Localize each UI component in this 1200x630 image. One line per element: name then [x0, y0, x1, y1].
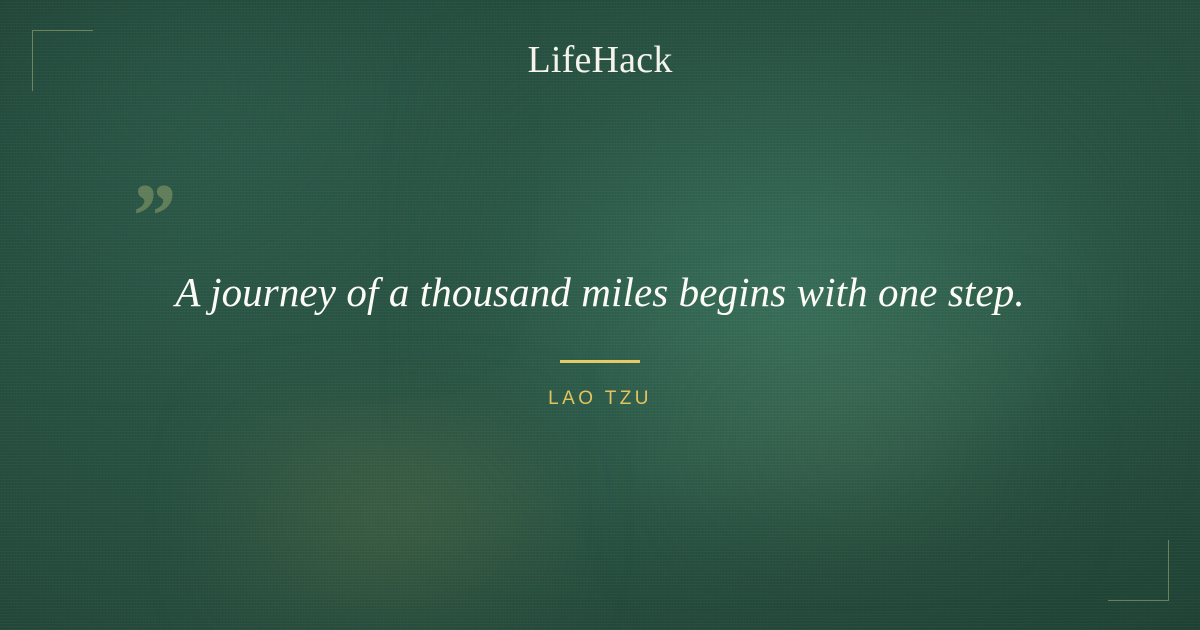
- quote-card: LifeHack ” A journey of a thousand miles…: [0, 0, 1200, 630]
- background-glow-olive-bottom: [210, 395, 570, 630]
- corner-bracket-bottom-right-icon: [1108, 540, 1169, 601]
- attribution-author-name: LAO TZU: [0, 388, 1200, 410]
- background-glow-olive-right: [640, 300, 1060, 600]
- brand-logo: LifeHack: [0, 38, 1200, 82]
- attribution-divider: [560, 360, 640, 363]
- quote-text: A journey of a thousand miles begins wit…: [100, 266, 1100, 318]
- quotation-mark-icon: ”: [128, 170, 174, 262]
